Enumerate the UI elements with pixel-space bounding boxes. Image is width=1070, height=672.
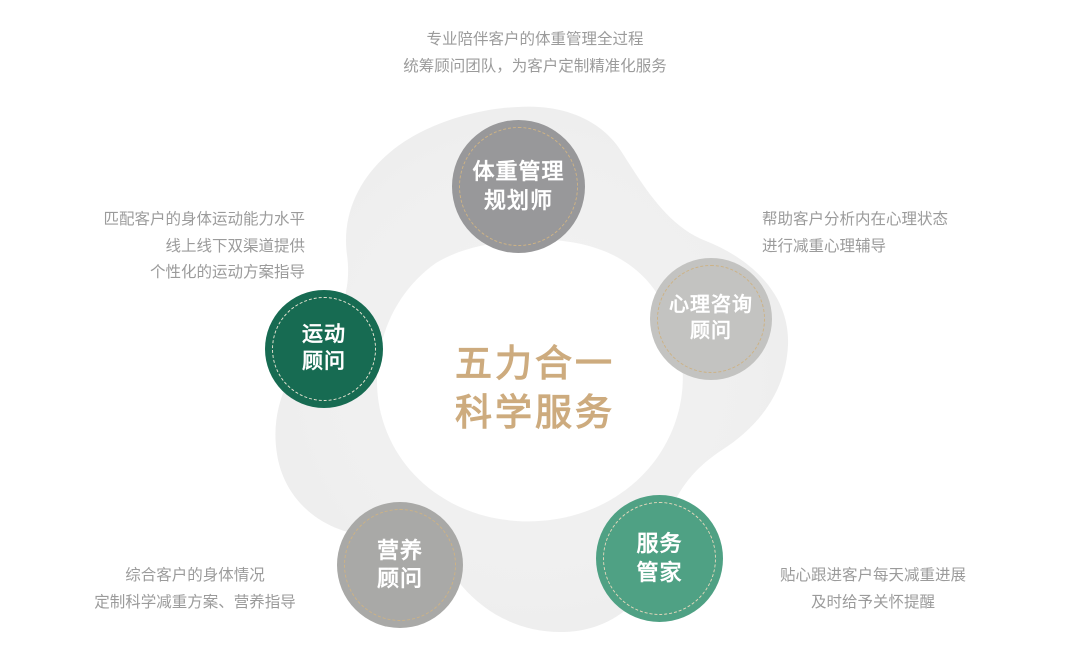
node-label-psych-consultant: 心理咨询 顾问 xyxy=(669,293,753,344)
node-nutrition-consultant[interactable]: 营养 顾问 xyxy=(337,502,463,628)
node-label-sport-consultant: 运动 顾问 xyxy=(302,322,346,376)
diagram-canvas: 体重管理 规划师 心理咨询 顾问 运动 顾问 营养 顾问 服务 管家 五力合一 xyxy=(0,0,1070,672)
header-note-line2: 统筹顾问团队，为客户定制精准化服务 xyxy=(0,54,1070,81)
annotation-nutrition-consultant: 综合客户的身体情况 定制科学减重方案、营养指导 xyxy=(50,563,340,616)
annotation-butler-line1: 贴心跟进客户每天减重进展 xyxy=(728,563,1018,590)
annotation-psych-line1: 帮助客户分析内在心理状态 xyxy=(762,207,1052,234)
annotation-butler-line2: 及时给予关怀提醒 xyxy=(728,590,1018,617)
node-sport-consultant[interactable]: 运动 顾问 xyxy=(265,290,383,408)
annotation-psych-line2: 进行减重心理辅导 xyxy=(762,234,1052,261)
header-note: 专业陪伴客户的体重管理全过程 统筹顾问团队，为客户定制精准化服务 xyxy=(0,27,1070,80)
annotation-nutrition-line1: 综合客户的身体情况 xyxy=(50,563,340,590)
node-label-weight-planner: 体重管理 规划师 xyxy=(472,158,564,214)
annotation-service-butler: 贴心跟进客户每天减重进展 及时给予关怀提醒 xyxy=(728,563,1018,616)
center-title-line1: 五力合一 xyxy=(400,340,670,389)
annotation-sport-line2: 线上线下双渠道提供 xyxy=(20,234,305,261)
node-label-nutrition-consultant: 营养 顾问 xyxy=(377,537,423,593)
annotation-sport-line1: 匹配客户的身体运动能力水平 xyxy=(20,207,305,234)
center-title: 五力合一 科学服务 xyxy=(400,340,670,438)
node-label-service-butler: 服务 管家 xyxy=(636,530,682,586)
annotation-psych-consultant: 帮助客户分析内在心理状态 进行减重心理辅导 xyxy=(762,207,1052,260)
node-service-butler[interactable]: 服务 管家 xyxy=(596,495,723,622)
node-weight-planner[interactable]: 体重管理 规划师 xyxy=(452,120,585,253)
header-note-line1: 专业陪伴客户的体重管理全过程 xyxy=(0,27,1070,54)
center-title-line2: 科学服务 xyxy=(400,389,670,438)
annotation-nutrition-line2: 定制科学减重方案、营养指导 xyxy=(50,590,340,617)
annotation-sport-consultant: 匹配客户的身体运动能力水平 线上线下双渠道提供 个性化的运动方案指导 xyxy=(20,207,305,287)
annotation-sport-line3: 个性化的运动方案指导 xyxy=(20,260,305,287)
